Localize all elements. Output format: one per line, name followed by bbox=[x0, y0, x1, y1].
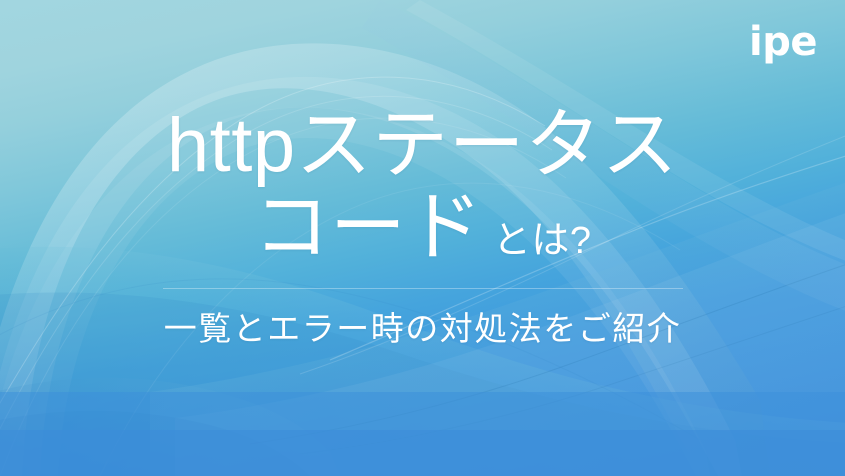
hero-title-line-1: httpステータス bbox=[0, 108, 845, 184]
hero-title-main: コード bbox=[253, 185, 483, 270]
brand-logo-text: ipe bbox=[749, 19, 817, 65]
bottom-fade-overlay bbox=[0, 392, 845, 476]
hero-content: httpステータス コードとは? 一覧とエラー時の対処法をご紹介 bbox=[0, 108, 845, 349]
brand-logo[interactable]: ipe bbox=[749, 22, 817, 62]
bottom-fade-overlay-2 bbox=[0, 430, 845, 476]
wave-lobe-lower-left bbox=[0, 378, 340, 476]
hero-title-suffix: とは? bbox=[483, 220, 592, 262]
hero-divider bbox=[163, 288, 683, 289]
hero-subtitle: 一覧とエラー時の対処法をご紹介 bbox=[0, 309, 845, 349]
hero-title-line-2: コードとは? bbox=[0, 190, 845, 266]
banner-hero: ipe httpステータス コードとは? 一覧とエラー時の対処法をご紹介 bbox=[0, 0, 845, 476]
